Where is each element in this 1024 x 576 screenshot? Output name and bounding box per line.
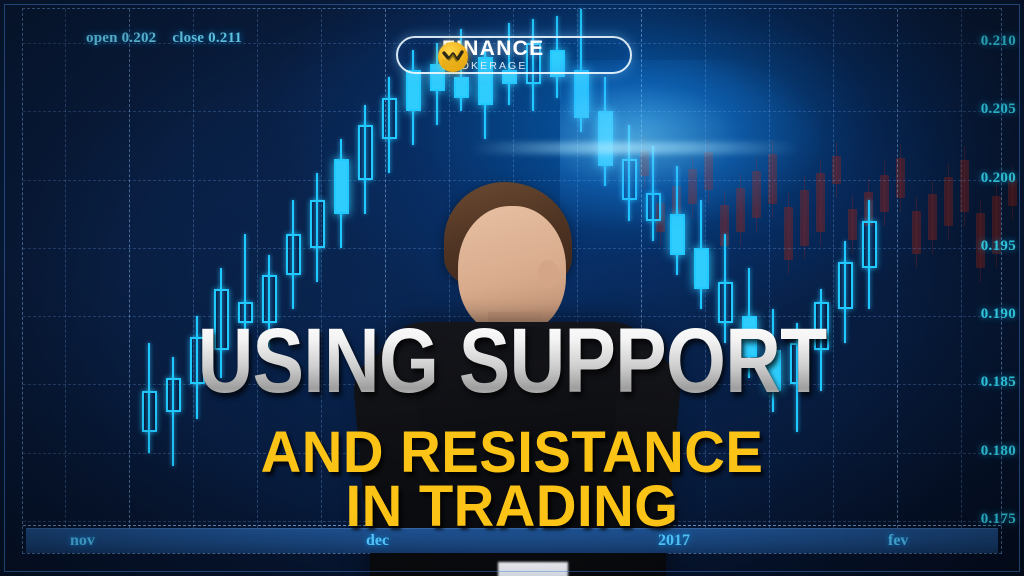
y-axis-tick-label: 0.185 — [981, 374, 1016, 391]
brand-logo[interactable]: FINANCE BROKERAGE — [396, 36, 632, 74]
candle-body — [862, 221, 877, 269]
y-axis-tick-label: 0.200 — [981, 170, 1016, 187]
candle-body — [358, 125, 373, 180]
candle-body — [694, 248, 709, 289]
candle-body — [574, 70, 589, 118]
title-line-1: USING SUPPORT — [82, 318, 942, 404]
thumbnail-canvas: 0.2100.2050.2000.1950.1900.1850.1800.175… — [0, 0, 1024, 576]
y-axis-tick-label: 0.195 — [981, 238, 1016, 255]
person-ear — [538, 260, 558, 288]
candle-body — [406, 70, 421, 111]
candle-body — [382, 98, 397, 139]
close-value: close 0.211 — [172, 30, 242, 46]
open-close-readout: open 0.202close 0.211 — [86, 30, 242, 47]
candle-body — [838, 262, 853, 310]
open-value: open 0.202 — [86, 30, 156, 46]
title-line-3: IN TRADING — [15, 473, 1008, 540]
y-axis-tick-label: 0.210 — [981, 33, 1016, 50]
candle-body — [334, 159, 349, 214]
candle-body — [454, 77, 469, 97]
y-axis-tick-label: 0.190 — [981, 306, 1016, 323]
candle-body — [598, 111, 613, 166]
candle-body — [286, 234, 301, 275]
person-shirt-cuff — [498, 562, 568, 576]
y-axis-tick-label: 0.205 — [981, 101, 1016, 118]
candle-body — [310, 200, 325, 248]
chart-zigzag-icon — [438, 42, 468, 72]
